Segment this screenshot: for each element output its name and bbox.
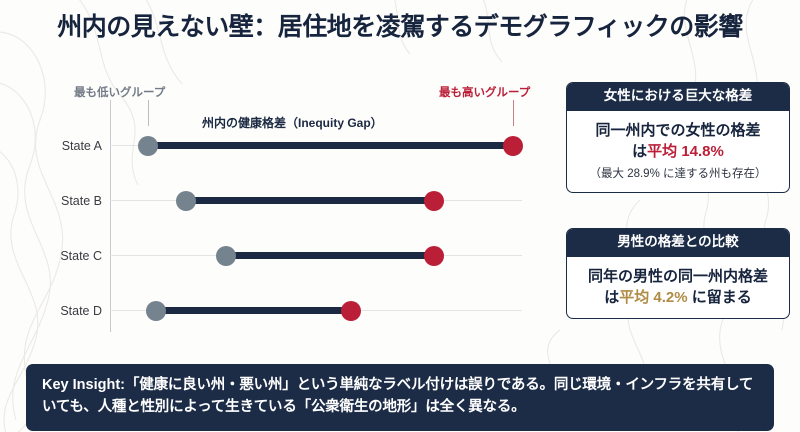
male-gap-text-suffix: に留まる	[688, 289, 752, 306]
key-insight-keyword: Key Insight:	[42, 377, 125, 393]
stat-card-male-comparison-body: 同年の男性の同一州内格差 は平均 4.2% に留まる	[567, 257, 789, 319]
low-dot-state-d[interactable]	[146, 301, 166, 321]
high-dot-state-b[interactable]	[424, 191, 444, 211]
stat-card-male-comparison-main: 同年の男性の同一州内格差 は平均 4.2% に留まる	[575, 266, 781, 309]
row-label-state-b: State B	[26, 191, 102, 211]
chart-row-state-d[interactable]: State D	[26, 301, 546, 321]
stat-card-female-gap-body: 同一州内での女性の格差 は平均 14.8% （最大 28.9% に達する州も存在…	[567, 111, 789, 192]
annotation-lowest-group: 最も低いグループ	[74, 84, 165, 100]
high-dot-state-c[interactable]	[424, 246, 444, 266]
male-gap-highlight-value: 平均 4.2%	[619, 289, 687, 306]
key-insight-text: 「健康に良い州・悪い州」という単純なラベル付けは誤りである。同じ環境・インフラを…	[42, 377, 753, 415]
stat-card-female-gap-main: 同一州内での女性の格差 は平均 14.8%	[575, 120, 781, 163]
female-gap-highlight-value: 平均 14.8%	[647, 143, 724, 160]
chart-row-state-c[interactable]: State C	[26, 246, 546, 266]
gap-bar-state-c	[226, 252, 434, 259]
key-insight-banner: Key Insight:「健康に良い州・悪い州」という単純なラベル付けは誤りであ…	[26, 364, 774, 431]
stat-card-female-gap-header: 女性における巨大な格差	[567, 83, 789, 111]
gap-bar-state-b	[186, 197, 434, 204]
high-dot-state-a[interactable]	[503, 136, 523, 156]
row-label-state-d: State D	[26, 301, 102, 321]
stat-card-female-gap: 女性における巨大な格差 同一州内での女性の格差 は平均 14.8% （最大 28…	[566, 82, 790, 193]
stat-card-male-comparison: 男性の格差との比較 同年の男性の同一州内格差 は平均 4.2% に留まる	[566, 228, 790, 319]
infographic-page: 州内の見えない壁：居住地を凌駕するデモグラフィックの影響 最も低いグループ 最も…	[0, 0, 800, 432]
row-label-state-a: State A	[26, 136, 102, 156]
page-title: 州内の見えない壁：居住地を凌駕するデモグラフィックの影響	[57, 12, 743, 42]
male-gap-text-line1: 同年の男性の同一州内格差	[588, 268, 768, 285]
page-title-container: 州内の見えない壁：居住地を凌駕するデモグラフィックの影響	[0, 12, 800, 42]
leader-line-lowest	[148, 100, 149, 126]
stat-card-male-comparison-header: 男性の格差との比較	[567, 229, 789, 257]
stat-card-female-gap-sub: （最大 28.9% に達する州も存在）	[575, 167, 781, 181]
chart-row-state-a[interactable]: State A	[26, 136, 546, 156]
male-gap-text-prefix: は	[604, 289, 619, 306]
row-label-state-c: State C	[26, 246, 102, 266]
low-dot-state-c[interactable]	[216, 246, 236, 266]
high-dot-state-d[interactable]	[341, 301, 361, 321]
dumbbell-chart: 最も低いグループ 最も高いグループ 州内の健康格差（Inequity Gap） …	[26, 78, 546, 338]
female-gap-text-prefix: は	[632, 143, 647, 160]
low-dot-state-b[interactable]	[176, 191, 196, 211]
gap-bar-state-a	[148, 142, 513, 149]
annotation-highest-group: 最も高いグループ	[439, 84, 530, 100]
chart-row-state-b[interactable]: State B	[26, 191, 546, 211]
gap-bar-state-d	[156, 307, 351, 314]
inequity-gap-label: 州内の健康格差（Inequity Gap）	[202, 114, 383, 131]
leader-line-highest	[513, 100, 514, 126]
chart-y-axis	[110, 100, 111, 332]
low-dot-state-a[interactable]	[138, 136, 158, 156]
female-gap-text-line1: 同一州内での女性の格差	[595, 122, 760, 139]
